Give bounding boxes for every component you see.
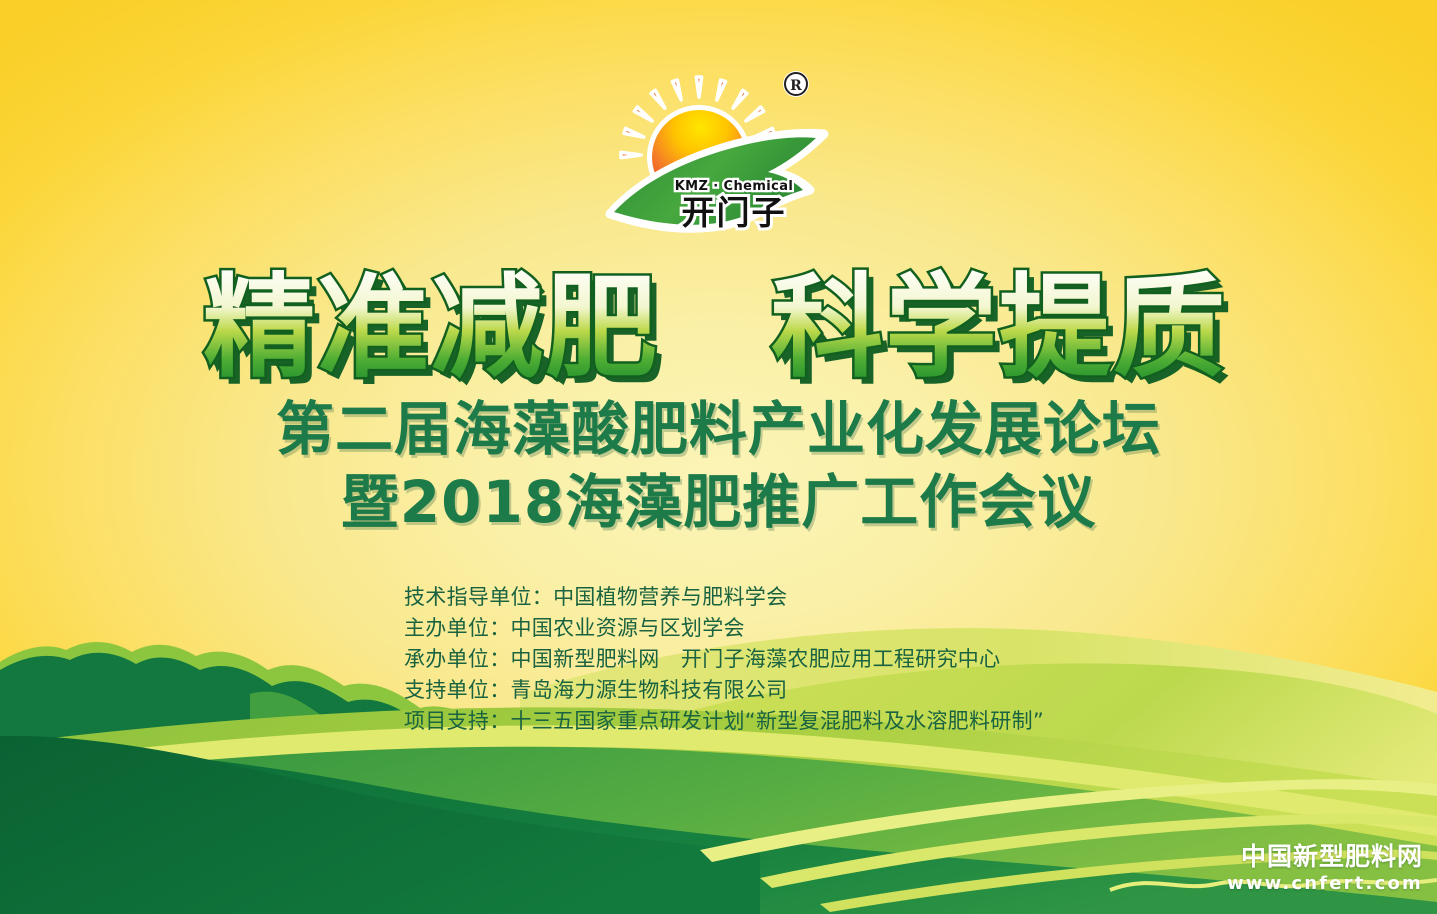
subtitle-line-2: 暨2018海藻肥推广工作会议 — [0, 471, 1437, 534]
info-line-host: 主办单位：中国农业资源与区划学会 — [404, 613, 1044, 644]
headline-part2: 科学提质 — [771, 263, 1227, 392]
poster-canvas: R KMZ · Chemical 开门子 精准减肥 科学提 — [0, 0, 1437, 914]
subtitle-block: 第二届海藻酸肥料产业化发展论坛 暨2018海藻肥推广工作会议 — [0, 398, 1437, 533]
info-line-organizer: 承办单位：中国新型肥料网 开门子海藻农肥应用工程研究中心 — [404, 644, 1044, 675]
registered-trademark-icon: R — [783, 71, 809, 97]
logo-brand-latin: KMZ · Chemical — [674, 179, 793, 194]
info-line-supporter: 支持单位：青岛海力源生物科技有限公司 — [404, 675, 1044, 706]
subtitle-line-1: 第二届海藻酸肥料产业化发展论坛 — [0, 398, 1437, 461]
headline-part1: 精准减肥 — [203, 263, 659, 392]
logo-brand-cn: 开门子 — [681, 193, 786, 232]
organizer-info-block: 技术指导单位：中国植物营养与肥料学会 主办单位：中国农业资源与区划学会 承办单位… — [404, 582, 1044, 737]
site-watermark: 中国新型肥料网 www.cnfert.com — [1227, 843, 1423, 895]
watermark-site-name: 中国新型肥料网 — [1227, 843, 1423, 871]
watermark-url: www.cnfert.com — [1227, 873, 1423, 894]
headline: 精准减肥 科学提质 精准减肥 科学提质 — [0, 262, 1437, 392]
info-line-project-support: 项目支持：十三五国家重点研发计划“新型复混肥料及水溶肥料研制” — [404, 706, 1044, 737]
company-logo: R KMZ · Chemical 开门子 — [604, 62, 834, 252]
info-line-technical-guidance: 技术指导单位：中国植物营养与肥料学会 — [404, 582, 1044, 613]
svg-text:R: R — [790, 78, 802, 94]
logo-brand-lockup: KMZ · Chemical 开门子 — [674, 179, 793, 232]
